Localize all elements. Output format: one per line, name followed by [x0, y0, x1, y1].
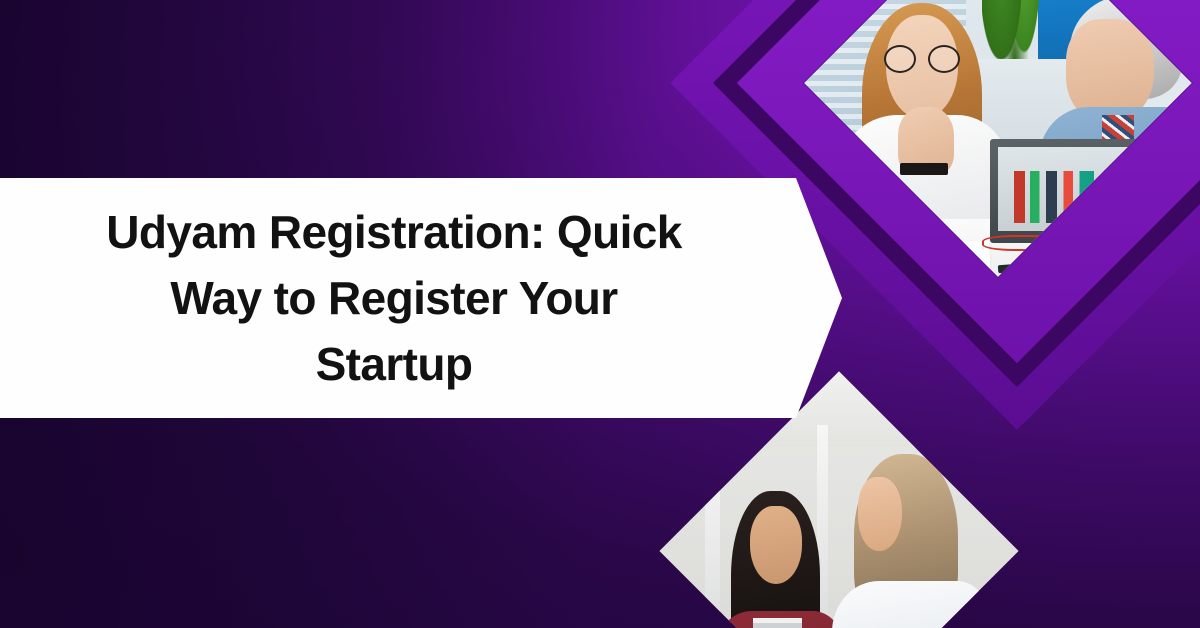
- woman-dark-face: [750, 506, 802, 584]
- woman-blonde-face: [858, 477, 903, 551]
- left-accent-slab: [0, 534, 24, 574]
- title-banner: Udyam Registration: Quick Way to Registe…: [0, 178, 842, 418]
- page-title: Udyam Registration: Quick Way to Registe…: [51, 199, 737, 397]
- woman-patterned-shirt: [753, 618, 801, 628]
- wrist-watch: [900, 163, 948, 175]
- eyeglasses-icon: [884, 45, 960, 73]
- title-container: Udyam Registration: Quick Way to Registe…: [51, 199, 791, 397]
- udyam-registration-banner: Udyam Registration: Quick Way to Registe…: [0, 0, 1200, 628]
